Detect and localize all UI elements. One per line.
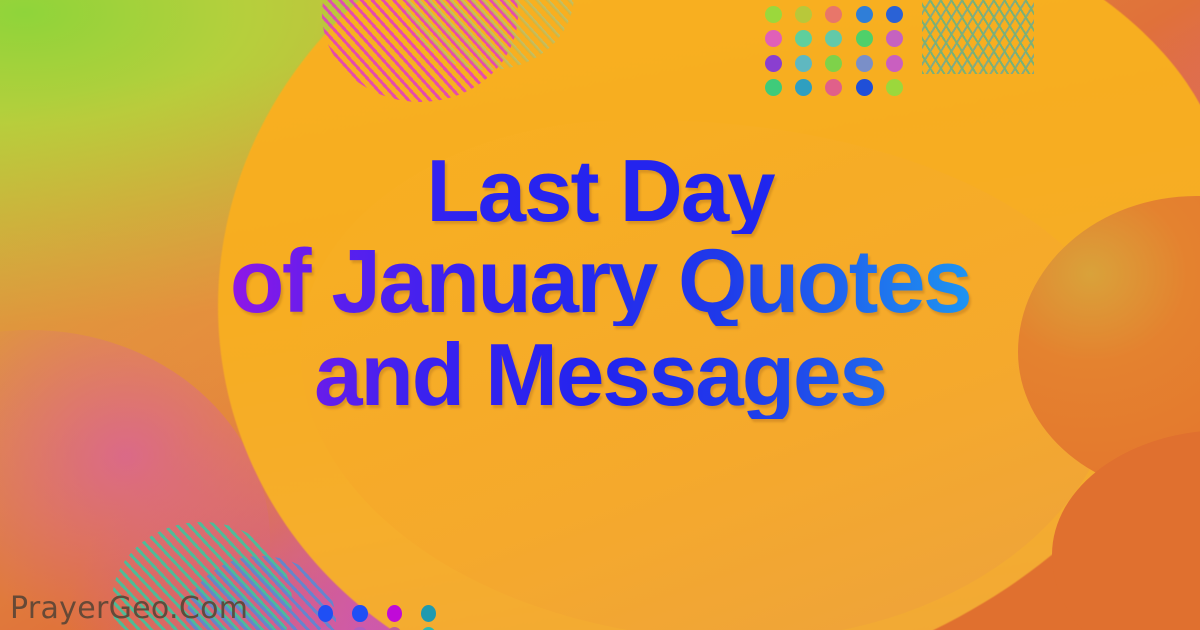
decorative-dot bbox=[765, 55, 782, 72]
decorative-dot bbox=[765, 79, 782, 96]
decorative-dot bbox=[795, 55, 812, 72]
decorative-dot bbox=[886, 55, 903, 72]
multicolor-dot-grid-icon bbox=[758, 2, 910, 100]
decorative-dot bbox=[825, 6, 842, 23]
decorative-dot bbox=[387, 605, 402, 622]
decorative-dot bbox=[886, 6, 903, 23]
decorative-dot bbox=[795, 30, 812, 47]
decorative-dot bbox=[795, 79, 812, 96]
decorative-dot bbox=[856, 79, 873, 96]
decorative-dot bbox=[825, 55, 842, 72]
decorative-dot bbox=[856, 55, 873, 72]
decorative-dot bbox=[856, 6, 873, 23]
decorative-dot bbox=[825, 30, 842, 47]
decorative-dot bbox=[856, 30, 873, 47]
decorative-dot bbox=[825, 79, 842, 96]
decorative-dot bbox=[421, 627, 436, 630]
decorative-dot bbox=[765, 30, 782, 47]
decorative-dot bbox=[352, 627, 367, 630]
decorative-dot bbox=[387, 627, 402, 630]
poster-canvas: Last Day of January Quotes and Messages … bbox=[0, 0, 1200, 630]
decorative-dot bbox=[318, 605, 333, 622]
decorative-dot bbox=[765, 6, 782, 23]
site-watermark: PrayerGeo.Com bbox=[10, 591, 248, 626]
decorative-dot bbox=[352, 605, 367, 622]
decorative-dot bbox=[886, 30, 903, 47]
decorative-dot bbox=[421, 605, 436, 622]
bottom-dot-row-second-icon bbox=[318, 624, 436, 630]
decorative-dot bbox=[795, 6, 812, 23]
decorative-dot bbox=[318, 627, 333, 630]
teal-zigzag-pattern-icon bbox=[922, 0, 1034, 74]
decorative-dot bbox=[886, 79, 903, 96]
